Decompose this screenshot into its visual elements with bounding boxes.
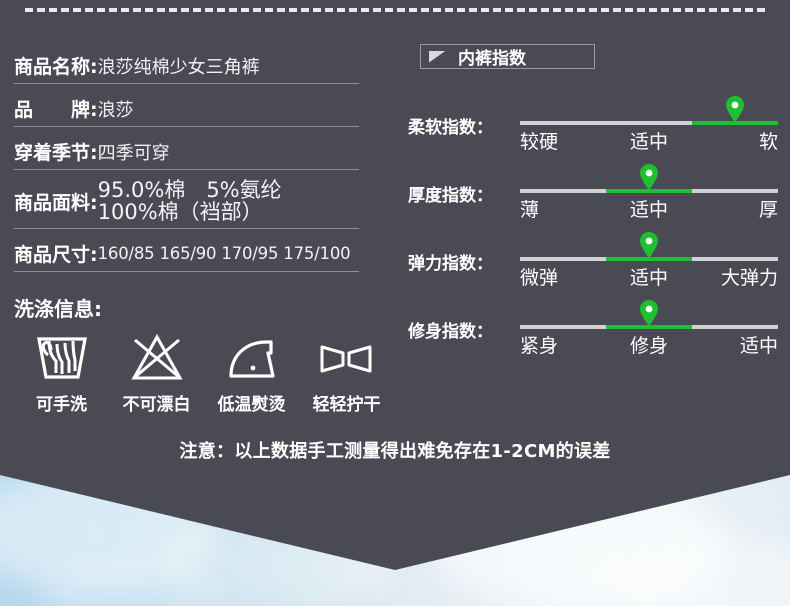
meter-tick: 薄 — [520, 195, 606, 222]
info-label: 商品尺寸: — [14, 240, 98, 267]
info-label: 商品名称: — [14, 52, 98, 79]
wash-info-section: 洗涤信息: 可手洗 不可漂白 — [14, 293, 394, 415]
meter-thickness: 厚度指数： 薄 适中 厚 — [420, 161, 780, 229]
product-info-list: 商品名称: 浪莎纯棉少女三角裤 品 牌: 浪莎 穿着季节: 四季可穿 商品面料: — [14, 52, 376, 277]
no-bleach-icon — [126, 331, 188, 383]
meter-ticks: 紧身 修身 适中 — [520, 331, 778, 358]
hand-wash-icon — [31, 331, 93, 383]
wash-icon-cell: 轻轻拧干 — [299, 331, 394, 415]
map-pin-marker-icon[interactable] — [639, 232, 659, 258]
info-label: 品 牌: — [14, 95, 98, 122]
meter-tick: 紧身 — [520, 331, 606, 358]
row-separator — [14, 83, 359, 84]
dashed-divider-top — [25, 8, 765, 12]
meter-label: 修身指数： — [408, 317, 493, 342]
fabric-values: 95.0%棉 5%氨纶 100%棉（裆部） — [98, 179, 282, 224]
meter-ticks: 薄 适中 厚 — [520, 195, 778, 222]
cloud-blob — [40, 560, 220, 606]
info-row-brand: 品 牌: 浪莎 — [14, 95, 376, 132]
meter-ticks: 微弹 适中 大弹力 — [520, 263, 778, 290]
info-row-name: 商品名称: 浪莎纯棉少女三角裤 — [14, 52, 376, 89]
row-separator — [14, 271, 359, 272]
map-pin-marker-icon[interactable] — [639, 300, 659, 326]
info-row-season: 穿着季节: 四季可穿 — [14, 138, 376, 175]
meter-label: 柔软指数： — [408, 113, 493, 138]
info-label: 穿着季节: — [14, 138, 98, 165]
meter-tick: 适中 — [606, 127, 692, 154]
meter-tick: 微弹 — [520, 263, 606, 290]
indices-meter-list: 柔软指数： 较硬 适中 软 厚度指数： — [420, 93, 780, 365]
corner-flag-icon — [429, 51, 446, 63]
meter-tick: 适中 — [606, 195, 692, 222]
meter-ticks: 较硬 适中 软 — [520, 127, 778, 154]
cloud-blob — [620, 540, 790, 606]
meter-tick: 大弹力 — [692, 263, 778, 290]
wash-info-title: 洗涤信息: — [14, 293, 394, 322]
fabric-line-2: 100%棉（裆部） — [98, 201, 282, 223]
measurement-note: 注意：以上数据手工测量得出难免存在1-2CM的误差 — [0, 437, 790, 463]
info-row-size: 商品尺寸: 160/85 165/90 170/95 175/100 — [14, 240, 376, 277]
info-row-fabric: 商品面料: 95.0%棉 5%氨纶 100%棉（裆部） — [14, 179, 376, 234]
meter-tick: 适中 — [692, 331, 778, 358]
meter-label: 厚度指数： — [408, 181, 493, 206]
gentle-wring-icon — [316, 331, 378, 383]
meter-tick: 修身 — [606, 331, 692, 358]
info-value: 浪莎纯棉少女三角裤 — [98, 53, 260, 79]
meter-tick: 软 — [692, 127, 778, 154]
meter-tick: 厚 — [692, 195, 778, 222]
meter-softness: 柔软指数： 较硬 适中 软 — [420, 93, 780, 161]
info-value: 160/85 165/90 170/95 175/100 — [98, 244, 351, 263]
meter-track-wrap[interactable]: 紧身 修身 适中 — [520, 297, 778, 365]
indices-section: 内裤指数 柔软指数： 较硬 适中 软 — [420, 44, 780, 365]
wash-icon-cell: 低温熨烫 — [204, 331, 299, 415]
map-pin-marker-icon[interactable] — [639, 164, 659, 190]
meter-tick: 适中 — [606, 263, 692, 290]
wash-icon-caption: 轻轻拧干 — [313, 390, 381, 415]
meter-fit: 修身指数： 紧身 修身 适中 — [420, 297, 780, 365]
wash-icon-caption: 可手洗 — [36, 390, 87, 415]
meter-label: 弹力指数： — [408, 249, 493, 274]
row-separator — [14, 169, 359, 170]
row-separator — [14, 126, 359, 127]
meter-track-wrap[interactable]: 薄 适中 厚 — [520, 161, 778, 229]
meter-elasticity: 弹力指数： 微弹 适中 大弹力 — [420, 229, 780, 297]
wash-icon-caption: 低温熨烫 — [218, 390, 286, 415]
wash-icon-row: 可手洗 不可漂白 低温熨烫 — [14, 331, 394, 415]
map-pin-marker-icon[interactable] — [725, 96, 745, 122]
info-value: 浪莎 — [98, 96, 134, 122]
row-separator — [14, 228, 359, 229]
low-temp-iron-icon — [221, 331, 283, 383]
indices-section-title: 内裤指数 — [458, 44, 526, 69]
meter-tick: 较硬 — [520, 127, 606, 154]
info-label: 商品面料: — [14, 188, 98, 215]
product-detail-page: 商品名称: 浪莎纯棉少女三角裤 品 牌: 浪莎 穿着季节: 四季可穿 商品面料: — [0, 0, 790, 606]
meter-track-wrap[interactable]: 微弹 适中 大弹力 — [520, 229, 778, 297]
wash-icon-cell: 可手洗 — [14, 331, 109, 415]
fabric-line-1: 95.0%棉 5%氨纶 — [98, 179, 282, 201]
wash-icon-caption: 不可漂白 — [123, 390, 191, 415]
meter-track-wrap[interactable]: 较硬 适中 软 — [520, 93, 778, 161]
indices-section-header: 内裤指数 — [420, 44, 595, 69]
info-value: 四季可穿 — [98, 139, 170, 165]
wash-icon-cell: 不可漂白 — [109, 331, 204, 415]
